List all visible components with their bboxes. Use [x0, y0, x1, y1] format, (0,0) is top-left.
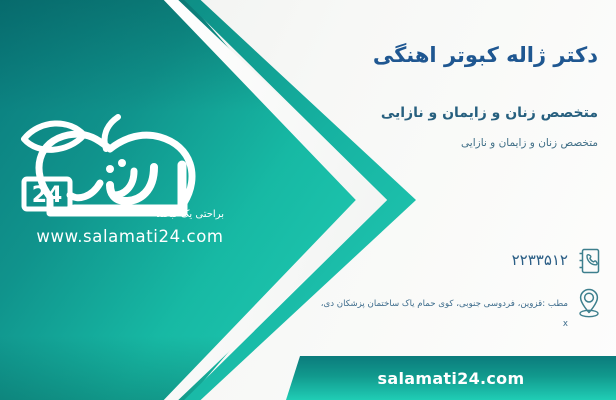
map-pin-icon	[576, 288, 602, 318]
contact-row-address[interactable]: مطب :قزوین، فردوسی جنوبی، کوی حمام یاک س…	[316, 288, 602, 331]
phone-number: ۲۲۳۳۵۱۲	[316, 248, 568, 269]
contact-details: ۲۲۳۳۵۱۲ مطب :قزوین، فردوسی جنوبی، کوی حم…	[316, 248, 602, 341]
address-line-2: x	[563, 319, 568, 329]
salamati24-logo[interactable]: 24 براحتی یک لبخند www.salamati24.com	[14, 105, 246, 270]
svg-text:24: 24	[32, 183, 63, 208]
card-content: دکتر ژاله کبوتر اهنگی متخصص زنان و زایما…	[316, 0, 616, 400]
logo-mark: 24	[14, 105, 246, 245]
business-card: 24 براحتی یک لبخند www.salamati24.com دک…	[0, 0, 616, 400]
address-line-1: مطب :قزوین، فردوسی جنوبی، کوی حمام یاک س…	[321, 299, 568, 309]
footer-website-url: salamati24.com	[378, 369, 525, 388]
logo-website-url[interactable]: www.salamati24.com	[14, 227, 246, 246]
contact-row-phone[interactable]: ۲۲۳۳۵۱۲	[316, 248, 602, 278]
address-text: مطب :قزوین، فردوسی جنوبی، کوی حمام یاک س…	[316, 288, 568, 331]
doctor-name: دکتر ژاله کبوتر اهنگی	[328, 42, 598, 68]
logo-tagline: براحتی یک لبخند	[157, 209, 225, 220]
doctor-specialty-secondary: متخصص زنان و زایمان و نازایی	[328, 137, 598, 151]
footer-bar[interactable]: salamati24.com	[286, 356, 616, 400]
doctor-specialty-primary: متخصص زنان و زایمان و نازایی	[328, 104, 598, 122]
phone-book-icon	[576, 248, 602, 278]
